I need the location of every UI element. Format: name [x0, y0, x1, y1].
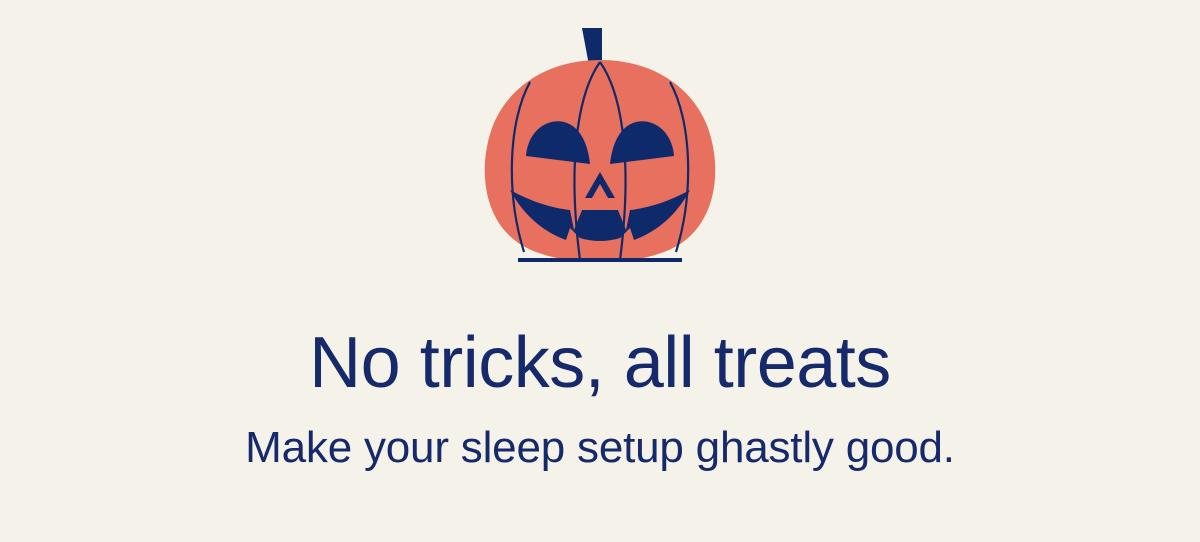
halloween-promo-banner: No tricks, all treats Make your sleep se… — [0, 0, 1200, 542]
page-subtitle: Make your sleep setup ghastly good. — [245, 424, 955, 472]
jack-o-lantern-illustration — [470, 18, 730, 270]
page-title: No tricks, all treats — [309, 326, 891, 402]
pumpkin-base-line — [518, 258, 682, 262]
